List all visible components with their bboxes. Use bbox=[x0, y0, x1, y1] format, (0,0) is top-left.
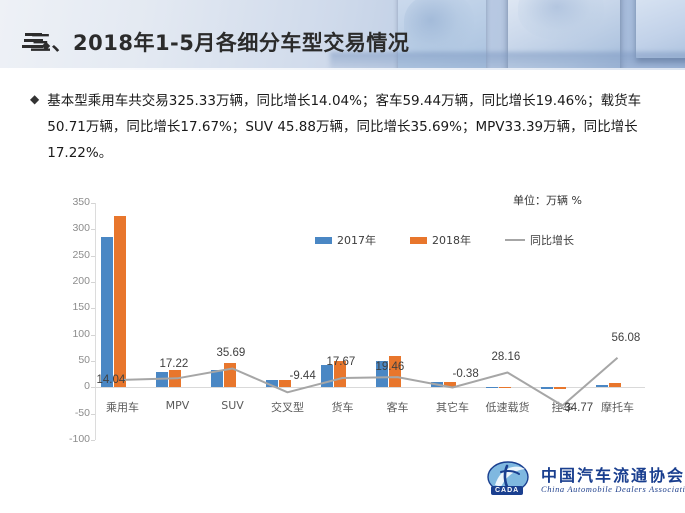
data-label: 17.67 bbox=[327, 356, 356, 368]
data-label: -34.77 bbox=[561, 402, 594, 414]
data-label: 17.22 bbox=[160, 358, 189, 370]
decorative-cube-right bbox=[636, 0, 685, 58]
organization-logo: CADA 中国汽车流通协会 China Automobile Dealers A… bbox=[487, 458, 677, 506]
logo-chinese-name: 中国汽车流通协会 bbox=[541, 462, 685, 486]
page-title: 三、2018年1-5月各细分车型交易情况 bbox=[30, 27, 409, 57]
data-label: 14.04 bbox=[97, 374, 126, 386]
chart-container: 单位：万辆 % 2017年 2018年 同比增长 350300250200150… bbox=[52, 190, 657, 450]
data-label: -0.38 bbox=[453, 368, 479, 380]
logo-abbr: CADA bbox=[491, 486, 523, 495]
content-bullet-block: ◆ 基本型乘用车共交易325.33万辆，同比增长14.04%；客车59.44万辆… bbox=[30, 88, 655, 166]
data-label: 35.69 bbox=[217, 347, 246, 359]
logo-english-name: China Automobile Dealers Association bbox=[541, 484, 685, 494]
data-label: 28.16 bbox=[492, 351, 521, 363]
data-label: 19.46 bbox=[376, 361, 405, 373]
header-bottom-rule bbox=[0, 68, 685, 70]
diamond-bullet-icon: ◆ bbox=[30, 88, 39, 110]
chart-plot-area: 350300250200150100500-50-100 乘用车MPVSUV交叉… bbox=[52, 190, 657, 450]
data-label: 56.08 bbox=[612, 332, 641, 344]
data-label: -9.44 bbox=[290, 370, 316, 382]
growth-polyline bbox=[123, 358, 618, 406]
body-paragraph: 基本型乘用车共交易325.33万辆，同比增长14.04%；客车59.44万辆，同… bbox=[47, 88, 655, 166]
